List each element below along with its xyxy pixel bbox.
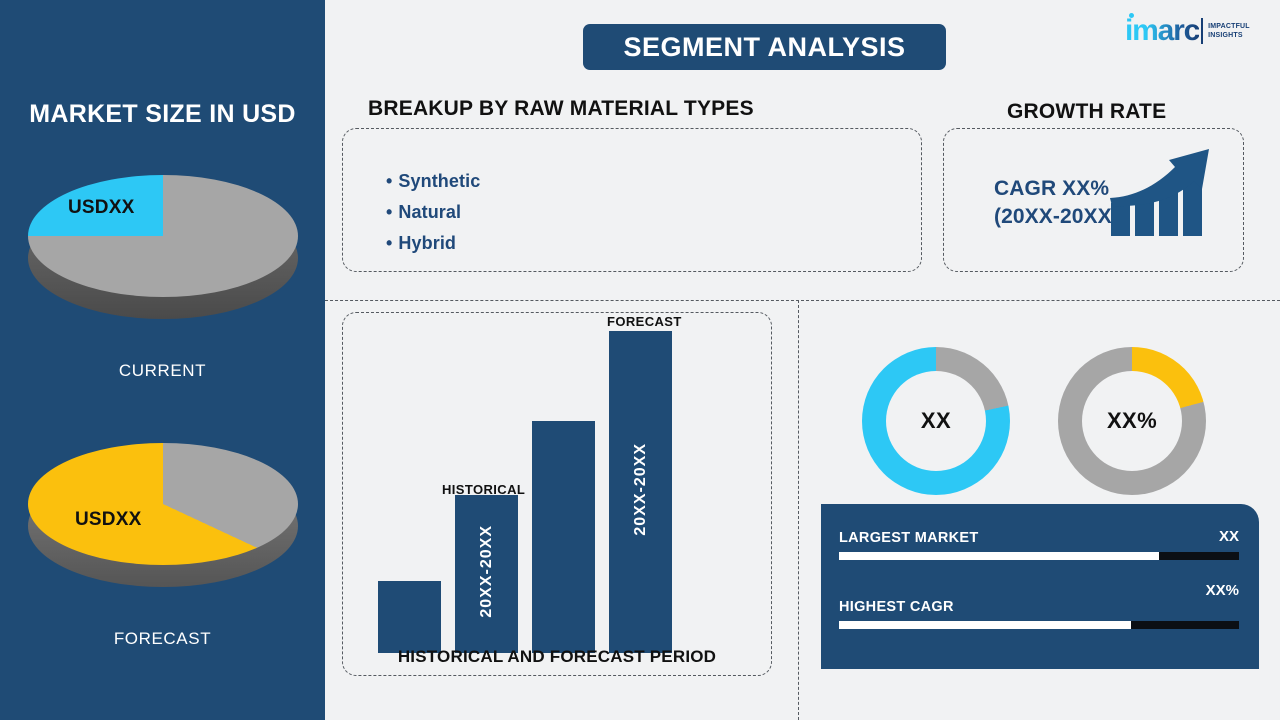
bar-0 — [378, 581, 441, 653]
highest-cagr-progress-track — [839, 621, 1239, 629]
breakup-box: •Synthetic •Natural •Hybrid — [342, 128, 922, 272]
bullet-icon: • — [386, 202, 392, 222]
largest-market-donut-value: XX — [886, 371, 986, 471]
stat-row-highest-cagr: HIGHEST CAGR XX% — [839, 598, 1239, 629]
bar-1: 20XX-20XX — [455, 495, 518, 653]
historical-annotation: HISTORICAL — [442, 482, 525, 497]
largest-market-progress-fill — [839, 552, 1159, 560]
horizontal-divider — [325, 300, 1280, 301]
growth-rate-heading: GROWTH RATE — [1007, 100, 1166, 124]
bullet-icon: • — [386, 171, 392, 191]
list-item-label: Natural — [398, 202, 461, 222]
page-title-text: SEGMENT ANALYSIS — [623, 32, 905, 63]
bar-2 — [532, 421, 595, 653]
cagr-text: CAGR XX% (20XX-20XX) — [994, 175, 1119, 230]
logo-wordmark: imarc — [1125, 16, 1199, 46]
stats-panel: LARGEST MARKET XX HIGHEST CAGR XX% — [821, 504, 1259, 669]
largest-market-donut: XX — [862, 347, 1010, 495]
cagr-line-2: (20XX-20XX) — [994, 203, 1119, 231]
infographic-root: MARKET SIZE IN USD USDXX CURRENT USDXX F… — [0, 0, 1280, 720]
highest-cagr-value: XX% — [1206, 582, 1239, 599]
logo-divider — [1201, 18, 1203, 44]
largest-market-value: XX — [1219, 528, 1239, 545]
growth-rate-box: CAGR XX% (20XX-20XX) — [943, 128, 1244, 272]
logo-wordmark-text: imarc — [1125, 14, 1199, 47]
logo-tagline: IMPACTFUL INSIGHTS — [1208, 22, 1250, 41]
forecast-pie-caption: FORECAST — [0, 629, 325, 649]
imarc-logo: imarc IMPACTFUL INSIGHTS — [1125, 13, 1265, 49]
list-item-label: Synthetic — [398, 171, 480, 191]
page-title: SEGMENT ANALYSIS — [583, 24, 946, 70]
content-area: SEGMENT ANALYSIS imarc IMPACTFUL INSIGHT… — [325, 0, 1280, 720]
list-item-label: Hybrid — [398, 233, 456, 253]
market-size-panel: MARKET SIZE IN USD USDXX CURRENT USDXX F… — [0, 0, 325, 720]
current-pie-top — [28, 175, 298, 297]
current-pie-chart: USDXX — [0, 175, 325, 325]
bar-3-label: 20XX-20XX — [632, 443, 650, 536]
forecast-annotation: FORECAST — [607, 314, 682, 329]
breakup-list: •Synthetic •Natural •Hybrid — [386, 171, 480, 264]
vertical-divider — [798, 300, 799, 720]
list-item: •Synthetic — [386, 171, 480, 192]
breakup-heading: BREAKUP BY RAW MATERIAL TYPES — [368, 97, 754, 121]
current-pie-value-label: USDXX — [68, 197, 134, 219]
forecast-pie-top — [28, 443, 298, 565]
historical-forecast-box: 20XX-20XX HISTORICAL 20XX-20XX FORECAST … — [342, 312, 772, 676]
logo-tagline-line2: INSIGHTS — [1208, 31, 1250, 40]
highest-cagr-donut-value: XX% — [1082, 371, 1182, 471]
highest-cagr-donut: XX% — [1058, 347, 1206, 495]
list-item: •Natural — [386, 202, 480, 223]
stat-row-largest-market: LARGEST MARKET XX — [839, 529, 1239, 560]
forecast-pie-chart: USDXX — [0, 443, 325, 593]
logo-dot-icon — [1129, 13, 1134, 18]
bar-chart: 20XX-20XX HISTORICAL 20XX-20XX FORECAST — [365, 325, 745, 653]
highest-cagr-progress-fill — [839, 621, 1131, 629]
largest-market-label: LARGEST MARKET — [839, 530, 979, 546]
growth-arrow-bars-icon — [1109, 141, 1221, 241]
largest-market-progress-track — [839, 552, 1239, 560]
highest-cagr-label: HIGHEST CAGR — [839, 599, 954, 615]
bullet-icon: • — [386, 233, 392, 253]
bar-3: 20XX-20XX — [609, 331, 672, 653]
list-item: •Hybrid — [386, 233, 480, 254]
bar-chart-axis-label: HISTORICAL AND FORECAST PERIOD — [343, 647, 771, 699]
cagr-line-1: CAGR XX% — [994, 175, 1119, 203]
current-pie-caption: CURRENT — [0, 361, 325, 381]
market-size-title: MARKET SIZE IN USD — [0, 100, 325, 129]
forecast-pie-value-label: USDXX — [75, 509, 141, 531]
logo-tagline-line1: IMPACTFUL — [1208, 22, 1250, 31]
bar-1-label: 20XX-20XX — [478, 525, 496, 618]
